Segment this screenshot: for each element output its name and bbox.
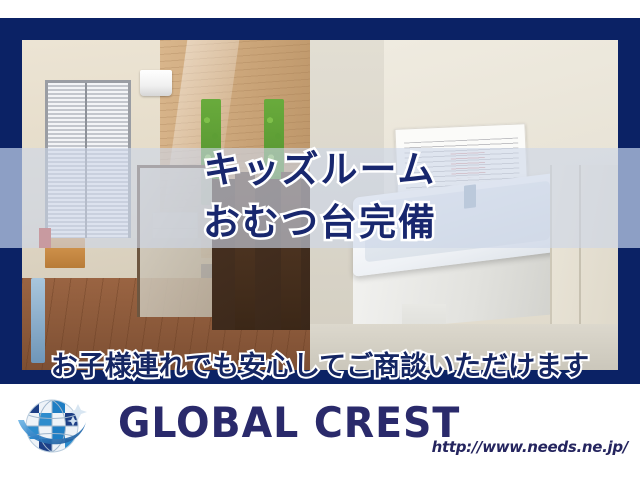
- headline-line-1: キッズルーム: [0, 143, 640, 196]
- caption-text: お子様連れでも安心してご商談いただけます: [0, 344, 640, 383]
- headline: キッズルーム おむつ台完備: [0, 143, 640, 249]
- top-white-strip: [0, 0, 640, 18]
- air-conditioner-icon: [140, 70, 172, 96]
- headline-line-2: おむつ台完備: [0, 196, 640, 249]
- brand-name: GLOBAL CREST: [118, 398, 460, 447]
- dealer-banner: キッズルーム おむつ台完備 お子様連れでも安心してご商談いただけます: [0, 0, 640, 480]
- globe-icon: [14, 392, 90, 464]
- website-url[interactable]: http://www.needs.ne.jp/: [432, 438, 628, 456]
